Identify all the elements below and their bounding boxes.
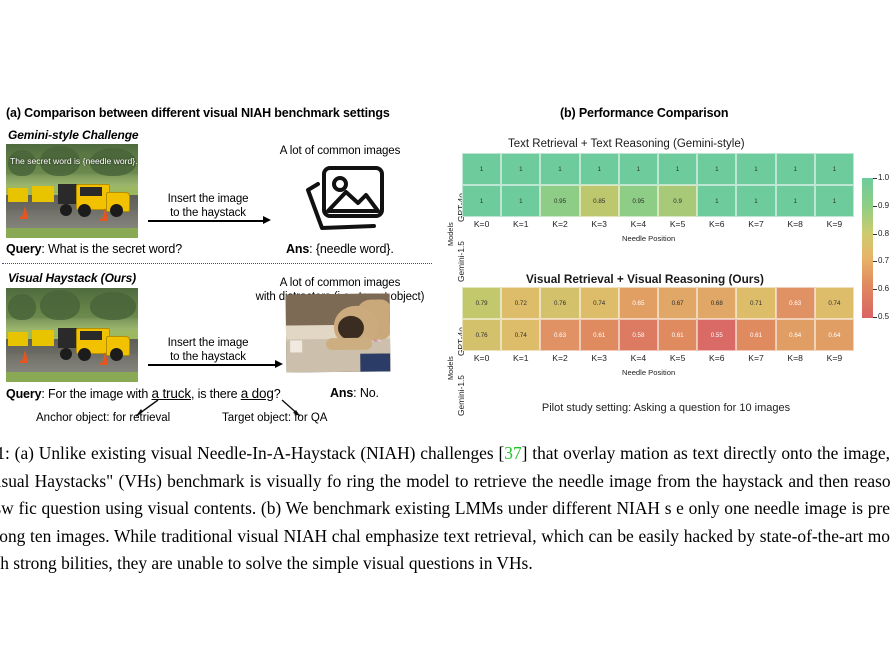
insert-label2-line1: Insert the image xyxy=(168,337,249,349)
dog-photo-white-object xyxy=(290,340,302,352)
photo-truck-window xyxy=(80,187,102,196)
heatmap-cell: 1 xyxy=(619,153,658,185)
colorbar-tick-label: 0.9 xyxy=(878,201,889,210)
citation-link[interactable]: 37 xyxy=(504,443,521,463)
heatmap-text-retrieval: 1111111111110.950.850.950.91111 xyxy=(462,153,854,217)
image-placeholder-icon xyxy=(296,162,388,244)
colorbar-tick-dash xyxy=(873,234,877,235)
heatmap-xtick: K=8 xyxy=(776,353,815,363)
photo-tree xyxy=(90,292,136,320)
heatmap-xtick: K=9 xyxy=(815,219,854,229)
photo-traffic-cone-base xyxy=(99,363,108,365)
heatmap-cell: 1 xyxy=(697,185,736,217)
caption-prefix: re 1: (a) Unlike existing visual Needle-… xyxy=(0,443,504,463)
colorbar-tick-dash xyxy=(873,261,877,262)
distractor-caption-line1: A lot of common images xyxy=(280,277,401,289)
heatmap-xtick: K=8 xyxy=(776,219,815,229)
panel-b-title: (b) Performance Comparison xyxy=(560,106,728,120)
heatmap-cell: 0.67 xyxy=(658,287,697,319)
insert-arrow-head-1 xyxy=(263,216,271,224)
heatmap-cell: 0.9 xyxy=(658,185,697,217)
heatmap-xtick: K=5 xyxy=(658,353,697,363)
heatmap-xtick: K=9 xyxy=(815,353,854,363)
insert-arrow-label-2: Insert the image to the haystack xyxy=(150,336,266,364)
heatmap-xtick: K=2 xyxy=(540,219,579,229)
heatmap-1-ylabel-gemini: Gemini-1.5 xyxy=(456,241,466,282)
gemini-style-subcaption: Gemini-style Challenge xyxy=(8,128,139,142)
photo-truck-wheel xyxy=(110,204,123,217)
heatmap-1-title: Text Retrieval + Text Reasoning (Gemini-… xyxy=(508,138,745,150)
heatmap-cell: 0.74 xyxy=(501,319,540,351)
heatmap-cell: 0.61 xyxy=(580,319,619,351)
heatmap-cell: 0.76 xyxy=(540,287,579,319)
panel-a-comparison: (a) Comparison between different visual … xyxy=(0,106,436,424)
heatmap-cell: 1 xyxy=(658,153,697,185)
colorbar-tick-label: 0.6 xyxy=(878,284,889,293)
heatmap-cell: 0.74 xyxy=(580,287,619,319)
colorbar-tick-label: 0.5 xyxy=(878,312,889,321)
heatmap-2-xlabel: Needle Position xyxy=(622,368,675,377)
photo-tree xyxy=(40,290,80,320)
heatmap-cell: 1 xyxy=(697,153,736,185)
photo-truck-wheel xyxy=(78,204,91,217)
heatmap-cell: 0.79 xyxy=(462,287,501,319)
colorbar-tick-dash xyxy=(873,317,877,318)
heatmap-1-models-label: Models xyxy=(446,222,455,246)
heatmap-cell: 0.64 xyxy=(815,319,854,351)
heatmap-cell: 0.68 xyxy=(697,287,736,319)
photo-truck-wheel xyxy=(110,348,123,361)
heatmap-xtick: K=0 xyxy=(462,219,501,229)
target-object-annotation: Target object: for QA xyxy=(222,412,327,424)
heatmap-cell: 1 xyxy=(462,153,501,185)
heatmap-cell: 0.63 xyxy=(776,287,815,319)
photo-truck-wheel xyxy=(60,348,72,360)
insert-arrow-line-1 xyxy=(148,220,264,222)
heatmap-cell: 1 xyxy=(462,185,501,217)
heatmap-cell: 0.71 xyxy=(736,287,775,319)
heatmap-xtick: K=6 xyxy=(697,353,736,363)
heatmap-cell: 1 xyxy=(540,153,579,185)
answer-text: : {needle word}. xyxy=(309,242,393,256)
heatmap-xtick: K=2 xyxy=(540,353,579,363)
heatmap-cell: 0.85 xyxy=(580,185,619,217)
heatmap-xtick: K=6 xyxy=(697,219,736,229)
query-row-1: Query: What is the secret word? xyxy=(6,242,182,256)
heatmap-cell: 0.74 xyxy=(815,287,854,319)
needle-overlay-text: The secret word is {needle word}. xyxy=(10,156,138,166)
heatmap-cell: 0.55 xyxy=(697,319,736,351)
visual-haystack-subcaption: Visual Haystack (Ours) xyxy=(8,271,136,285)
heatmap-cell: 0.61 xyxy=(658,319,697,351)
heatmap-2-title: Visual Retrieval + Visual Reasoning (Our… xyxy=(526,272,764,286)
heatmap-cell: 0.65 xyxy=(619,287,658,319)
insert-label-line1: Insert the image xyxy=(168,193,249,205)
photo-truck-wheel xyxy=(78,348,91,361)
heatmap-cell: 0.95 xyxy=(540,185,579,217)
photo-truck-wheel xyxy=(60,204,72,216)
dog-paws xyxy=(326,338,372,350)
colorbar-tick-dash xyxy=(873,289,877,290)
answer-row-1: Ans: {needle word}. xyxy=(286,242,394,256)
insert-label2-line2: to the haystack xyxy=(170,351,246,363)
dotted-divider xyxy=(2,263,432,264)
photo-background-truck xyxy=(32,330,54,346)
heatmap-cell: 1 xyxy=(501,153,540,185)
heatmap-cell: 0.64 xyxy=(776,319,815,351)
heatmap-2-models-label: Models xyxy=(446,356,455,380)
insert-label-line2: to the haystack xyxy=(170,207,246,219)
answer-text-2: : No. xyxy=(353,386,379,400)
heatmap-xtick: K=4 xyxy=(619,219,658,229)
heatmap-xtick: K=7 xyxy=(736,219,775,229)
photo-background-truck xyxy=(32,186,54,202)
photo-traffic-cone xyxy=(102,352,108,363)
colorbar-tick-label: 1.0 xyxy=(878,173,889,182)
heatmap-2-ylabel-gemini: Gemini-1.5 xyxy=(456,375,466,416)
heatmap-cell: 1 xyxy=(776,185,815,217)
photo-traffic-cone xyxy=(22,206,28,217)
query-text: : What is the secret word? xyxy=(41,242,182,256)
photo-traffic-cone xyxy=(102,208,108,219)
photo-traffic-cone-base xyxy=(99,219,108,221)
anchor-object-annotation: Anchor object: for retrieval xyxy=(36,412,170,424)
heatmap-cell: 0.58 xyxy=(619,319,658,351)
figure-caption: re 1: (a) Unlike existing visual Needle-… xyxy=(0,440,890,578)
truck-photo-with-needle-text: The secret word is {needle word}. xyxy=(6,144,138,238)
heatmap-cell: 0.72 xyxy=(501,287,540,319)
colorbar xyxy=(862,178,873,318)
photo-grass-foreground xyxy=(6,372,138,382)
photo-traffic-cone xyxy=(22,350,28,361)
heatmap-cell: 1 xyxy=(815,153,854,185)
heatmap-cell: 1 xyxy=(501,185,540,217)
dog-face xyxy=(338,316,364,340)
heatmap-xtick: K=0 xyxy=(462,353,501,363)
heatmap-xtick: K=5 xyxy=(658,219,697,229)
colorbar-tick-dash xyxy=(873,178,877,179)
insert-arrow-line-2 xyxy=(148,364,276,366)
heatmap-xtick: K=3 xyxy=(580,219,619,229)
common-images-caption: A lot of common images xyxy=(252,144,428,158)
heatmap-1-xlabel: Needle Position xyxy=(622,234,675,243)
heatmap-cell: 1 xyxy=(736,185,775,217)
heatmap-xtick: K=4 xyxy=(619,353,658,363)
pilot-study-caption: Pilot study setting: Asking a question f… xyxy=(496,402,836,414)
heatmap-cell: 0.61 xyxy=(736,319,775,351)
answer-label: Ans xyxy=(286,242,309,256)
heatmap-cell: 1 xyxy=(776,153,815,185)
heatmap-cell: 0.63 xyxy=(540,319,579,351)
photo-traffic-cone-base xyxy=(19,217,28,219)
photo-background-truck xyxy=(8,188,28,202)
photo-traffic-cone-base xyxy=(19,361,28,363)
panel-a-title: (a) Comparison between different visual … xyxy=(6,106,390,120)
colorbar-tick-label: 0.8 xyxy=(878,229,889,238)
heatmap-cell: 1 xyxy=(736,153,775,185)
insert-arrow-head-2 xyxy=(275,360,283,368)
dog-photo xyxy=(286,293,391,372)
insert-arrow-label-1: Insert the image to the haystack xyxy=(150,192,266,220)
heatmap-visual-retrieval: 0.790.720.760.740.650.670.680.710.630.74… xyxy=(462,287,854,351)
heatmap-cell: 1 xyxy=(815,185,854,217)
colorbar-tick-dash xyxy=(873,206,877,207)
heatmap-xtick: K=7 xyxy=(736,353,775,363)
photo-truck-window xyxy=(80,331,102,340)
heatmap-cell: 0.95 xyxy=(619,185,658,217)
panel-b-performance: (b) Performance Comparison Text Retrieva… xyxy=(436,106,890,424)
heatmap-xtick: K=3 xyxy=(580,353,619,363)
colorbar-tick-label: 0.7 xyxy=(878,256,889,265)
photo-grass-foreground xyxy=(6,228,138,238)
truck-photo-plain xyxy=(6,288,138,382)
heatmap-xtick: K=1 xyxy=(501,219,540,229)
dog-photo-blue-object xyxy=(360,353,390,371)
photo-tree xyxy=(8,294,36,320)
query-label: Query xyxy=(6,242,41,256)
photo-background-truck xyxy=(8,332,28,346)
heatmap-xtick: K=1 xyxy=(501,353,540,363)
heatmap-cell: 1 xyxy=(580,153,619,185)
heatmap-cell: 0.76 xyxy=(462,319,501,351)
